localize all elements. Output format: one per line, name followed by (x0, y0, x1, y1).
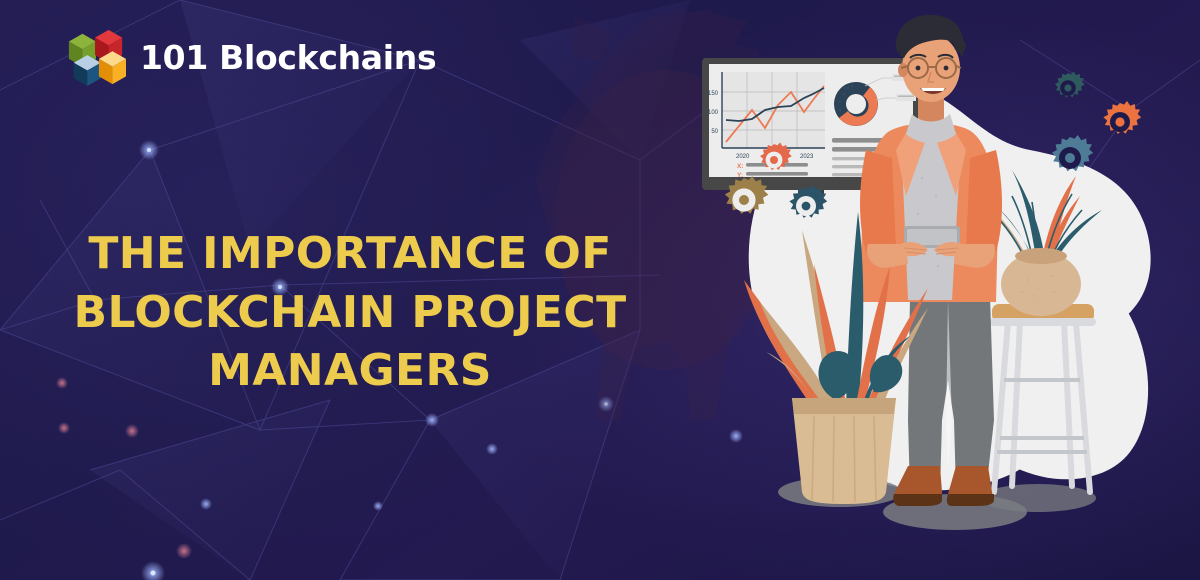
banner-root: 101 Blockchains THE IMPORTANCE OF BLOCKC… (0, 0, 1200, 580)
four-cubes-logo-icon (66, 26, 126, 88)
title-line-2: BLOCKCHAIN PROJECT (40, 284, 660, 342)
title-line-3: MANAGERS (40, 342, 660, 400)
y-tick-50: 50 (711, 129, 718, 135)
gear-orange-right (1103, 101, 1141, 134)
gear-teal-right (1055, 71, 1085, 97)
illustration: 150 100 50 2020 2021 2023 (660, 0, 1200, 580)
x-tick-2023: 2023 (800, 154, 814, 160)
donut-legend-chip-2 (896, 94, 916, 101)
brand-name: 101 Blockchains (140, 38, 436, 77)
sleeve-right (966, 150, 1002, 252)
y-tick-100: 100 (708, 110, 719, 116)
x-tick-2020: 2020 (736, 154, 750, 160)
sleeve-left (860, 150, 896, 252)
analytics-scene-icon: 150 100 50 2020 2021 2023 (660, 0, 1200, 580)
gears-right (1052, 71, 1141, 171)
y-row-label: Y: (737, 172, 743, 179)
y-tick-150: 150 (708, 91, 719, 97)
page-title: THE IMPORTANCE OF BLOCKCHAIN PROJECT MAN… (40, 225, 660, 399)
brand-logo[interactable]: 101 Blockchains (66, 26, 436, 88)
title-line-1: THE IMPORTANCE OF (40, 225, 660, 283)
monitor-line-chart: 150 100 50 2020 2021 2023 (708, 72, 825, 160)
x-row-label: X: (737, 163, 744, 170)
